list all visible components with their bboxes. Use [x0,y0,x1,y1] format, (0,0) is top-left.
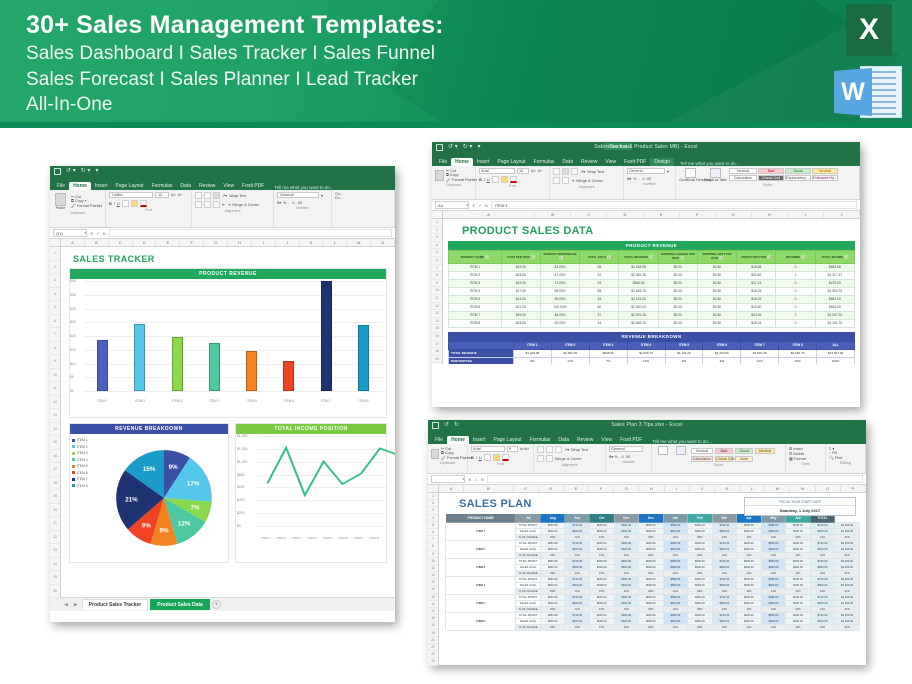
table-cell[interactable]: 2 [776,311,815,319]
left-sheet-area[interactable]: SALES TRACKER PRODUCT REVENUE $40$35$30$… [61,247,395,597]
tab-formulas[interactable]: Formulas [526,436,555,444]
table-cell[interactable]: $2.50 [697,271,736,279]
align-top-icon[interactable] [553,177,560,184]
table-cell[interactable]: 92.00% [541,319,580,327]
column-header[interactable]: TOTAL SOLD▾ [580,251,619,264]
bar[interactable] [97,340,108,391]
row-header[interactable]: 24 [428,658,438,665]
tab-data[interactable]: Data [176,182,195,190]
tab-file[interactable]: File [431,436,447,444]
tab-view[interactable]: View [219,182,238,190]
cancel-entry-icon[interactable]: ✕ [468,477,471,482]
row-header[interactable]: 13 [50,409,60,423]
left-column-headers[interactable]: A B C D E F G H I J K L M N [50,239,395,247]
tab-formulas[interactable]: Formulas [148,182,177,190]
insert-function-icon[interactable]: fx [103,231,106,236]
rt-ribbon-tabs[interactable]: File Home Insert Page Layout Formulas Da… [432,155,860,166]
row-header[interactable]: 12 [50,396,60,410]
col-F[interactable]: F [180,239,204,246]
ribbon-group-styles[interactable]: Conditional Formatting Format as Table N… [676,166,860,199]
row-header[interactable]: 13 [432,310,442,318]
left-row-headers[interactable]: 1234567891011121314151617181920212223242… [50,247,61,597]
col-H[interactable]: H [752,211,788,218]
insert-function-icon[interactable]: fx [485,203,488,208]
table-cell[interactable]: $2,382.36 [551,349,589,357]
table-cell[interactable]: ITEM 7 [449,311,502,319]
column-header[interactable]: SHIPPING COST PER ITEM▾ [697,251,736,264]
table-cell[interactable]: 29% [639,625,664,631]
table-cell[interactable]: $49.00 [501,311,540,319]
row-header[interactable]: 10 [428,558,438,565]
row-header[interactable]: 13 [428,579,438,586]
filter-icon[interactable]: ▾ [607,255,611,259]
ribbon-group-styles[interactable]: Normal Bad Good Neutral Calculation Chec… [652,444,786,473]
ribbon-group-number[interactable]: General $▾ % , .0 .00 Number [606,444,652,473]
style-neutral[interactable]: Neutral [812,168,838,174]
fiscal-year-value[interactable]: Saturday, 1 July 2017 [745,506,855,515]
row-header[interactable]: 19 [428,622,438,629]
table-row[interactable]: ITEM 3$19.5073.00%29$966.50$0.00$2.50$17… [449,279,855,287]
tab-data[interactable]: Data [558,158,577,166]
table-cell[interactable]: $2.50 [697,295,736,303]
merge-center-button[interactable]: Merge & Center [232,203,259,207]
borders-icon[interactable] [122,200,129,207]
table-cell[interactable]: $2.50 [697,263,736,271]
col-I[interactable]: I [252,239,276,246]
col-N[interactable]: N [790,485,815,492]
row-header[interactable]: 21 [50,517,60,531]
decrease-font-icon[interactable]: A˅ [178,193,183,197]
table-cell[interactable]: 60 [580,303,619,311]
rt-column-headers[interactable]: A B C D E F G H I J [432,211,860,219]
underline-button[interactable]: U [487,178,490,182]
tab-insert[interactable]: Insert [469,436,490,444]
col-F[interactable]: F [589,485,614,492]
table-cell[interactable]: $16.29 [737,295,776,303]
chart-product-revenue[interactable]: PRODUCT REVENUE $40$35$30$25$20$15$10$5$… [69,268,387,418]
col-H[interactable]: H [228,239,252,246]
table-cell[interactable]: $25.04 [737,319,776,327]
rt-ribbon[interactable]: ✂ Cut ⧉ Copy 🖌 Format Painter Clipboard … [432,166,860,200]
column-header[interactable]: ITEM 4 [627,341,665,349]
row-header[interactable]: 11 [50,382,60,396]
row-header[interactable]: 2 [428,500,438,507]
table-cell[interactable]: TOTAL REVENUE [449,349,514,357]
fill-color-icon[interactable] [493,454,500,461]
column-header[interactable]: PROFIT PER ITEM▾ [737,251,776,264]
table-cell[interactable]: 83.00% [541,263,580,271]
style-good[interactable]: Good [785,168,811,174]
table-cell[interactable]: $1,320.00 [619,303,658,311]
tab-design[interactable]: Design [650,158,674,166]
row-header[interactable]: 6 [428,529,438,536]
table-cell[interactable]: ITEM 6 [449,303,502,311]
fill-color-icon[interactable] [501,176,508,183]
table-cell[interactable]: $1,151.00 [665,349,703,357]
row-header[interactable]: 20 [50,504,60,518]
wrap-text-button[interactable]: Wrap Text [587,170,604,174]
col-G[interactable]: G [614,485,639,492]
table-cell[interactable]: 44 [580,319,619,327]
format-as-table-icon[interactable]: Fo… [335,196,343,200]
row-header[interactable]: 3 [432,234,442,242]
increase-font-icon[interactable]: A˄ [531,169,536,173]
table-cell[interactable]: $13.60 [737,303,776,311]
style-followed-hyperlink[interactable]: Followed Hy... [812,175,838,181]
number-format-dropdown-icon[interactable]: ▾ [321,193,323,198]
row-header[interactable]: 20 [428,630,438,637]
table-cell[interactable]: $20.82 [737,271,776,279]
table-cell[interactable]: ITEM 4 [449,287,502,295]
table-cell[interactable]: $1,248.98 [513,349,551,357]
table-cell[interactable]: $0.00 [658,271,697,279]
accounting-format-icon[interactable]: $▾ [277,200,281,205]
row-header[interactable]: 1 [50,247,60,261]
table-cell[interactable]: 14% [565,625,590,631]
row-header[interactable]: 16 [50,450,60,464]
cancel-entry-icon[interactable]: ✕ [472,203,475,208]
align-top-icon[interactable] [537,455,544,462]
column-header[interactable]: Aug [540,514,565,523]
table-cell[interactable]: 96.00% [541,295,580,303]
table-row[interactable]: ITEM 6$11.00100.00%60$1,320.00$0.00$2.50… [449,303,855,311]
percent-format-icon[interactable]: % [283,201,286,205]
filter-icon[interactable]: ▾ [559,256,563,260]
underline-button[interactable]: U [117,202,120,206]
table-cell[interactable]: 0 [776,287,815,295]
filter-icon[interactable]: ▾ [485,255,489,259]
orientation-icon[interactable]: ↗▾ [222,193,227,198]
table-cell[interactable]: $2.50 [697,303,736,311]
col-M[interactable]: M [347,239,371,246]
save-icon[interactable] [54,168,61,175]
format-cells-icon[interactable]: ▦ Format [789,456,806,461]
filter-icon[interactable]: ▾ [844,255,848,259]
table-cell[interactable]: 45 [580,295,619,303]
style-bad[interactable]: Bad [758,168,784,174]
table-cell[interactable]: 15% [779,357,817,364]
row-header[interactable]: 19 [432,356,442,364]
style-explanatory[interactable]: Explanatory ... [785,175,811,181]
align-right-icon[interactable] [555,446,562,453]
column-header[interactable]: Nov [614,514,639,523]
paste-button[interactable]: Paste [53,206,68,210]
table-cell[interactable]: 1 [776,271,815,279]
table-cell[interactable]: 9% [703,357,741,364]
row-header[interactable]: 23 [428,651,438,658]
ribbon-group-font[interactable]: Arial 9A˄A˅ B I U Font [468,444,534,473]
table-cell[interactable]: $2,069.76 [779,349,817,357]
table-cell[interactable]: $0.00 [658,311,697,319]
align-center-icon[interactable] [562,168,569,175]
table-cell[interactable]: 29% [688,625,713,631]
table-cell[interactable]: $653.00 [815,295,854,303]
percent-format-icon[interactable]: % [633,177,636,181]
column-header[interactable]: Oct [589,514,614,523]
row-header[interactable]: 8 [50,342,60,356]
table-cell[interactable]: $0.00 [658,279,697,287]
decrease-decimal-icon[interactable]: .00 [297,201,302,205]
row-header[interactable]: 4 [432,242,442,250]
row-header[interactable]: 22 [428,644,438,651]
revenue-breakdown-table[interactable]: ITEM 1ITEM 2ITEM 3ITEM 4ITEM 5ITEM 6ITEM… [448,341,855,364]
tab-formulas[interactable]: Formulas [530,158,559,166]
row-header[interactable]: 19 [50,490,60,504]
tab-data[interactable]: Data [554,436,573,444]
table-cell[interactable]: $2,382.36 [619,271,658,279]
column-header[interactable]: RETURNS▾ [776,251,815,264]
column-header[interactable]: MARKUP PERCENTAGE▾ [541,251,580,264]
table-cell[interactable]: 98.00% [541,287,580,295]
row-header[interactable]: 5 [432,249,442,257]
row-header[interactable]: 23 [50,544,60,558]
left-sheet-tab-bar[interactable]: ◀ ▶ Product Sales Tracker Product Sales … [50,597,395,611]
bar[interactable] [246,351,257,391]
row-header[interactable]: 10 [432,287,442,295]
column-header[interactable]: Feb [688,514,713,523]
accounting-format-icon[interactable]: $▾ [627,176,631,181]
tab-review[interactable]: Review [577,158,601,166]
rt-sheet-body[interactable]: 12345678910111213141516171819 PRODUCT SA… [432,219,860,364]
product-name-cell[interactable]: ITEM 2 [446,541,516,559]
sheet-tab-product-sales-tracker[interactable]: Product Sales Tracker [82,599,149,610]
table-row[interactable]: PERCENTAGE9%17%7%13%8%9%21%15%100% [449,357,855,364]
table-cell[interactable]: 14% [614,625,639,631]
sheet-nav-prev-icon[interactable]: ◀ [62,602,70,608]
filter-icon[interactable]: ▾ [680,256,684,260]
product-name-cell[interactable]: ITEM 4 [446,577,516,595]
table-header-row[interactable]: PRODUCT NAME▾COST PER ITEM▾MARKUP PERCEN… [449,251,855,264]
column-header[interactable]: ITEM 3 [589,341,627,349]
column-header[interactable]: PRODUCT NAME▾ [449,251,502,264]
table-cell[interactable]: 9% [513,357,551,364]
table-cell[interactable]: 0 [776,319,815,327]
align-right-icon[interactable] [213,192,220,199]
table-header-row[interactable]: ITEM 1ITEM 2ITEM 3ITEM 4ITEM 5ITEM 6ITEM… [449,341,855,349]
column-header[interactable]: ITEM 8 [779,341,817,349]
table-cell[interactable]: 67% [589,625,614,631]
column-header[interactable]: ITEM 1 [513,341,551,349]
ribbon-group-alignment[interactable]: ↗▾ Wrap Text ⇥ Merge & Center Alignment [550,166,624,199]
align-right-icon[interactable] [571,168,578,175]
table-cell[interactable]: $18.25 [737,287,776,295]
table-cell[interactable]: 8% [665,357,703,364]
col-D[interactable]: D [607,211,643,218]
table-cell[interactable]: ITEM 8 [449,319,502,327]
row-header[interactable]: 5 [50,301,60,315]
row-header[interactable]: 7 [432,265,442,273]
align-top-icon[interactable] [195,201,202,208]
column-header[interactable]: TOTAL REVENUE▾ [619,251,658,264]
tab-review[interactable]: Review [195,182,219,190]
table-cell[interactable]: 14% [810,625,835,631]
table-cell[interactable]: $2.50 [697,279,736,287]
tab-home[interactable]: Home [69,182,91,190]
row-header[interactable]: 24 [50,558,60,572]
col-G[interactable]: G [204,239,228,246]
table-cell[interactable]: $0.00 [658,295,697,303]
name-box[interactable]: A4▾ [435,201,469,209]
row-header[interactable]: 22 [50,531,60,545]
bar[interactable] [172,337,183,391]
row-header[interactable]: 12 [428,572,438,579]
table-cell[interactable]: $2.50 [697,311,736,319]
row-header[interactable]: 2 [50,261,60,275]
font-color-icon[interactable] [502,454,509,461]
tab-page-layout[interactable]: Page Layout [493,158,529,166]
col-I[interactable]: I [665,485,690,492]
row-header[interactable]: 14 [428,586,438,593]
bar[interactable] [209,343,220,391]
row-header[interactable]: 1 [432,219,442,227]
table-cell[interactable]: 0 [776,295,815,303]
align-middle-icon[interactable] [546,455,553,462]
table-cell[interactable]: 100.00% [541,303,580,311]
col-A[interactable]: A [61,239,85,246]
table-cell[interactable]: ITEM 5 [449,295,502,303]
table-cell[interactable]: $2.50 [697,319,736,327]
col-K[interactable]: K [300,239,324,246]
italic-button[interactable]: I [114,202,115,206]
col-H[interactable]: H [639,485,664,492]
decrease-font-icon[interactable]: A˅ [538,169,543,173]
col-B[interactable]: B [535,211,571,218]
left-ribbon-tabs[interactable]: File Home Insert Page Layout Formulas Da… [50,179,395,190]
tab-home[interactable]: Home [451,158,473,166]
row-header[interactable]: 2 [432,227,442,235]
decimal-icons[interactable]: .0 .00 [641,177,651,181]
product-name-cell[interactable]: ITEM 1 [446,523,516,541]
row-header[interactable]: 3 [50,274,60,288]
table-cell[interactable]: 17% [551,357,589,364]
column-header[interactable]: ITEM 7 [741,341,779,349]
formula-input[interactable] [487,475,863,483]
align-left-icon[interactable] [537,446,544,453]
excel-window-sales-plan[interactable]: ↺ ↻ Sales Plan 3 Tips.xlsx - Excel File … [428,420,866,665]
rt-row-headers[interactable]: 12345678910111213141516171819 [432,219,443,364]
indent-icon[interactable]: ⇥ [571,178,574,183]
row-header[interactable]: 16 [428,601,438,608]
table-cell[interactable]: $1,320.00 [703,349,741,357]
tab-home[interactable]: Home [447,436,469,444]
chart-total-income-position[interactable]: TOTAL INCOME POSITION $1,400$1,200$1,000… [235,423,387,563]
col-I[interactable]: I [788,211,824,218]
table-cell[interactable]: 0 [776,263,815,271]
table-cell[interactable]: 11% [786,625,811,631]
bar[interactable] [321,281,332,391]
style-calculation[interactable]: Calculation [729,175,757,181]
table-cell[interactable]: $19.50 [501,279,540,287]
left-sheet-body[interactable]: 1234567891011121314151617181920212223242… [50,247,395,597]
table-cell[interactable]: $653.98 [815,263,854,271]
tab-review[interactable]: Review [573,436,597,444]
orientation-icon[interactable]: ↗▾ [580,169,585,174]
col-L[interactable]: L [740,485,765,492]
col-K[interactable]: K [715,485,740,492]
col-E[interactable]: E [156,239,180,246]
product-name-cell[interactable]: ITEM 3 [446,559,516,577]
ribbon-group-alignment[interactable]: ↗▾ Wrap Text ⇤ ⇥ Merge & Center Alignmen… [192,190,274,227]
quick-access-toolbar[interactable]: ↺ ▾ ↻ ▾ ▾ [54,168,98,175]
ribbon-group-font[interactable]: Calibri 12 A˄ A˅ B I U Font [106,190,192,227]
number-format-select[interactable]: General [277,192,319,198]
bar[interactable] [134,324,145,391]
product-name-cell[interactable]: ITEM 5 [446,595,516,613]
ribbon-group-clipboard[interactable]: Paste ✂ Cut ⧉ Copy ▾ 🖌 Format Painter Cl… [50,190,106,227]
table-row[interactable]: ITEM 1$19.5083.00%35$1,248.98$0.00$2.50$… [449,263,855,271]
select-all-corner[interactable] [432,211,443,218]
left-ribbon[interactable]: Paste ✂ Cut ⧉ Copy ▾ 🖌 Format Painter Cl… [50,190,395,228]
bold-button[interactable]: B [471,456,474,460]
underline-button[interactable]: U [479,456,482,460]
table-cell[interactable]: 0 [776,303,815,311]
column-header[interactable]: ITEM 6 [703,341,741,349]
chart-revenue-breakdown[interactable]: REVENUE BREAKDOWN ITEM 1ITEM 2ITEM 3ITEM… [69,423,229,563]
column-header[interactable]: TOTAL INCOME▾ [815,251,854,264]
bold-button[interactable]: B [109,202,112,206]
filter-icon[interactable]: ▾ [719,256,723,260]
rb-sheet-body[interactable]: 123456789101112131415161718192021222324 … [428,493,866,665]
col-J[interactable]: J [690,485,715,492]
column-header[interactable]: SHIPPING CHARGE PER ITEM▾ [658,251,697,264]
table-cell[interactable]: $1,207.25 [815,311,854,319]
table-cell[interactable]: $816.00 [815,303,854,311]
table-cell[interactable]: $0.00 [658,319,697,327]
table-cell[interactable]: $479.50 [815,279,854,287]
table-cell[interactable]: $1,828.75 [627,349,665,357]
format-painter-button[interactable]: 🖌 Format Painter [71,203,102,208]
row-header[interactable]: 18 [432,348,442,356]
ribbon-group-clipboard[interactable]: ✂ Cut ⧉ Copy 🖌 Format Painter Clipboard [428,444,468,473]
row-header[interactable]: 16 [432,333,442,341]
row-header[interactable]: 6 [432,257,442,265]
table-cell[interactable]: 12% [663,625,688,631]
bar[interactable] [283,361,294,391]
decrease-indent-icon[interactable]: ⇤ [222,202,225,207]
style-check-cell[interactable]: Check Cell [758,175,784,181]
table-cell[interactable]: 48.00% [541,311,580,319]
comma-format-icon[interactable]: , [288,201,289,205]
table-cell[interactable]: 14% [761,625,786,631]
table-cell[interactable]: 37 [580,311,619,319]
wrap-text-button[interactable]: Wrap Text [229,194,246,198]
column-header[interactable]: Jan [663,514,688,523]
col-A[interactable]: A [439,485,464,492]
tab-page-layout[interactable]: Page Layout [489,436,525,444]
bar[interactable] [358,325,369,391]
ribbon-group-cells[interactable]: ⊞ Insert ⊟ Delete ▦ Format Cells [786,444,826,473]
align-middle-icon[interactable] [204,201,211,208]
merge-center-button[interactable]: Merge & Center [555,457,582,461]
select-all-corner[interactable] [428,485,439,492]
align-middle-icon[interactable] [562,177,569,184]
table-cell[interactable]: 11% [737,625,762,631]
table-cell[interactable]: ITEM 1 [449,263,502,271]
table-cell[interactable]: 73.00% [541,279,580,287]
italic-button[interactable]: I [484,178,485,182]
table-cell[interactable]: $17.13 [737,279,776,287]
col-J[interactable]: J [824,211,860,218]
row-header[interactable]: 7 [50,328,60,342]
filter-icon[interactable]: ▾ [801,255,805,259]
col-A[interactable]: A [443,211,535,218]
align-left-icon[interactable] [195,192,202,199]
column-header[interactable]: Sep [565,514,590,523]
row-header[interactable]: 21 [428,637,438,644]
table-cell[interactable]: $0.00 [658,287,697,295]
find-select-icon[interactable]: 🔍 Find [829,455,842,460]
row-header[interactable]: 7 [428,536,438,543]
